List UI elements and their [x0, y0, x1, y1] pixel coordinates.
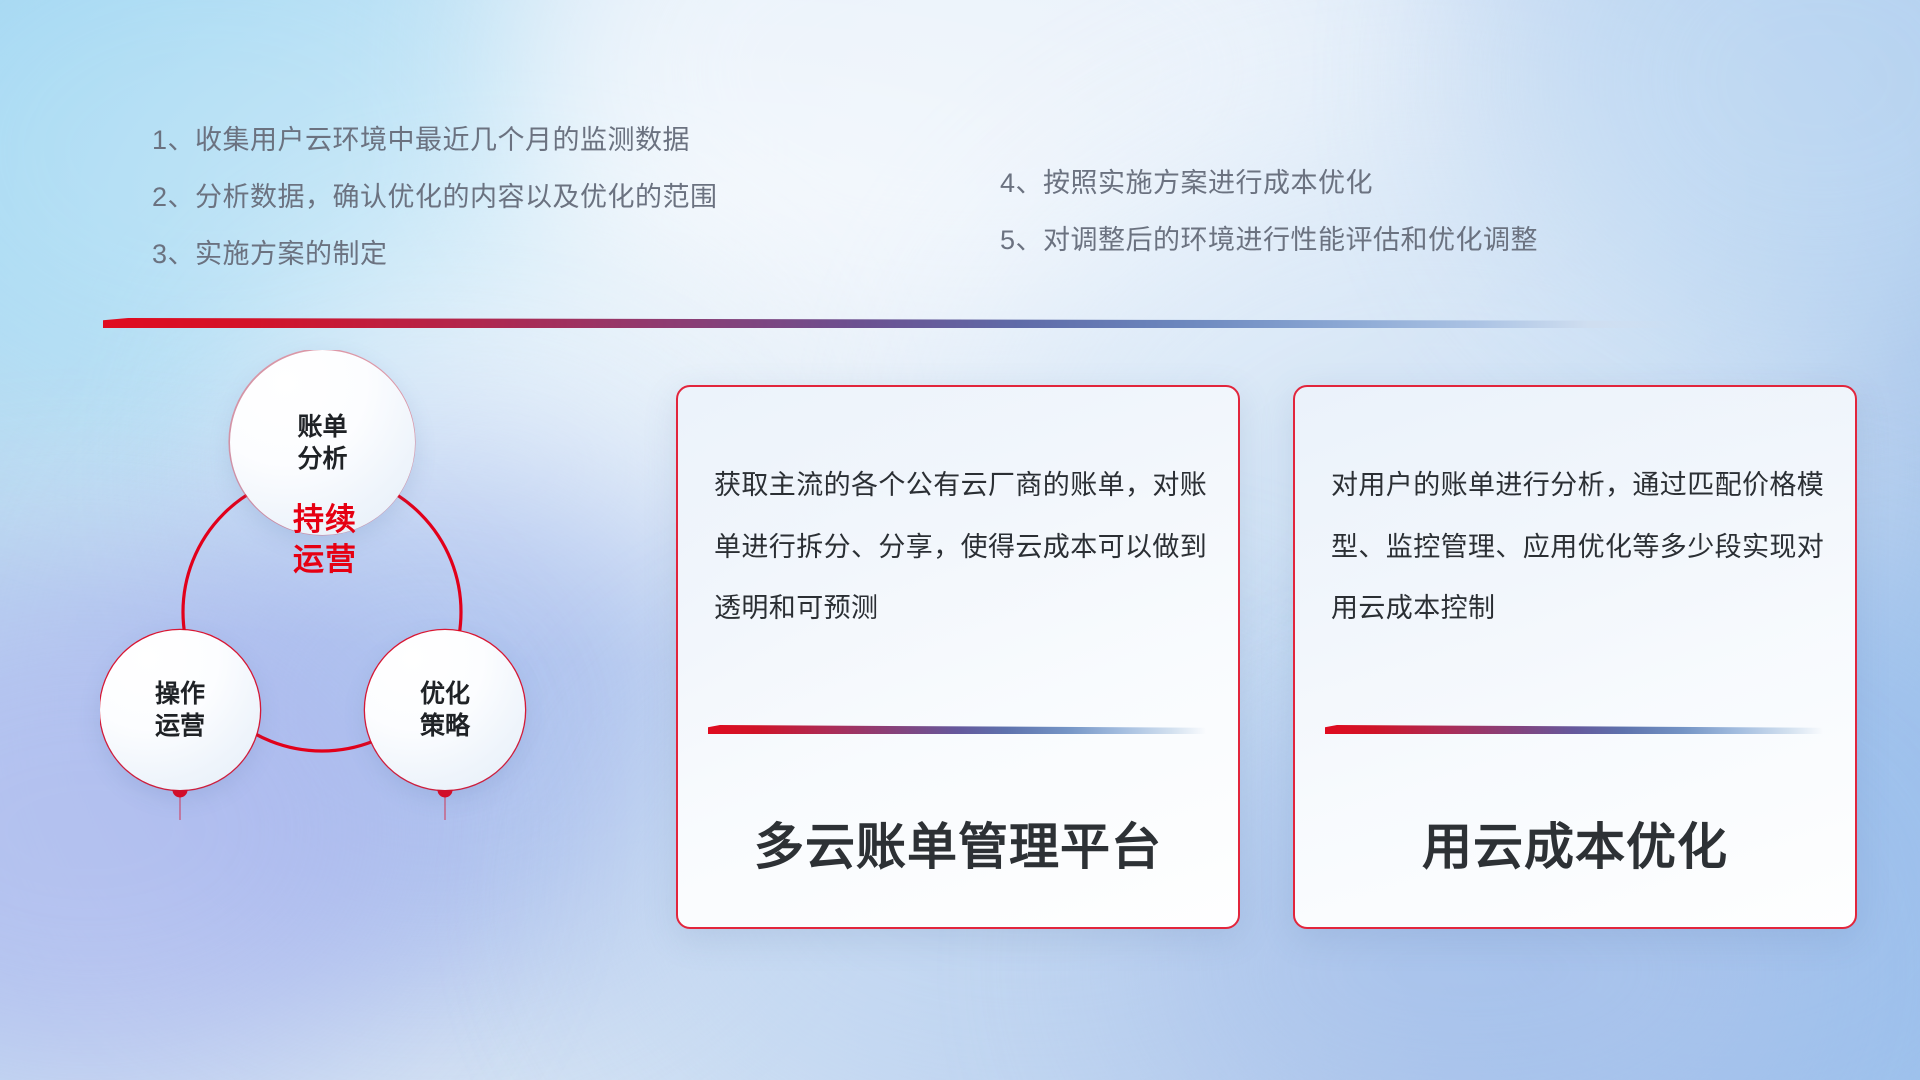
venn-center-line-2: 运营 — [293, 542, 357, 577]
card-cloud-cost-optimization[interactable]: 对用户的账单进行分析，通过匹配价格模型、监控管理、应用优化等多少段实现对用云成本… — [1293, 385, 1857, 929]
card-body-text: 对用户的账单进行分析，通过匹配价格模型、监控管理、应用优化等多少段实现对用云成本… — [1331, 455, 1825, 640]
card-title: 多云账单管理平台 — [678, 807, 1238, 879]
steps-list-left: 1、收集用户云环境中最近几个月的监测数据 2、分析数据，确认优化的内容以及优化的… — [152, 127, 718, 268]
venn-node-operations[interactable]: 操作运营 — [100, 630, 260, 790]
card-multicloud-billing-platform[interactable]: 获取主流的各个公有云厂商的账单，对账单进行拆分、分享，使得云成本可以做到透明和可… — [676, 385, 1240, 929]
step-item-2: 2、分析数据，确认优化的内容以及优化的范围 — [152, 184, 718, 211]
continuous-operation-diagram: 账单分析 操作运营 优化策略 持续 运营 — [100, 350, 620, 950]
step-item-5: 5、对调整后的环境进行性能评估和优化调整 — [1000, 227, 1538, 254]
slide-canvas: 1、收集用户云环境中最近几个月的监测数据 2、分析数据，确认优化的内容以及优化的… — [0, 0, 1920, 1080]
step-item-4: 4、按照实施方案进行成本优化 — [1000, 170, 1538, 197]
step-item-3: 3、实施方案的制定 — [152, 241, 718, 268]
card-divider — [708, 725, 1206, 734]
venn-node-label: 账单分析 — [297, 411, 347, 475]
card-body-text: 获取主流的各个公有云厂商的账单，对账单进行拆分、分享，使得云成本可以做到透明和可… — [714, 455, 1208, 640]
card-title: 用云成本优化 — [1295, 807, 1855, 879]
venn-center-line-1: 持续 — [293, 502, 357, 537]
venn-center-label: 持续 运营 — [255, 500, 395, 581]
venn-node-optimization-strategy[interactable]: 优化策略 — [365, 630, 525, 790]
card-divider — [1325, 725, 1823, 734]
step-item-1: 1、收集用户云环境中最近几个月的监测数据 — [152, 127, 718, 154]
venn-node-label: 优化策略 — [420, 678, 470, 742]
venn-node-label: 操作运营 — [155, 678, 205, 742]
steps-list-right: 4、按照实施方案进行成本优化 5、对调整后的环境进行性能评估和优化调整 — [1000, 170, 1538, 254]
